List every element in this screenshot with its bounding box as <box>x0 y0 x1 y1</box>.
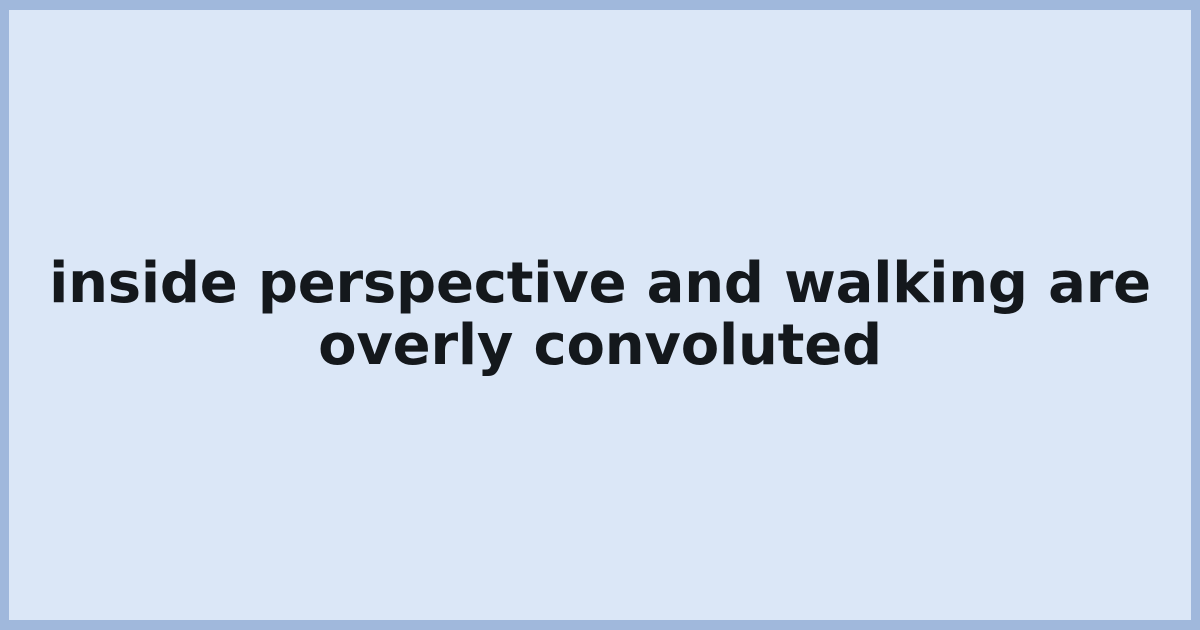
card-content-panel: inside perspective and walking are overl… <box>9 10 1191 620</box>
headline-block: inside perspective and walking are overl… <box>9 253 1191 377</box>
headline-text: inside perspective and walking are overl… <box>31 253 1169 377</box>
quote-card: inside perspective and walking are overl… <box>0 0 1200 630</box>
